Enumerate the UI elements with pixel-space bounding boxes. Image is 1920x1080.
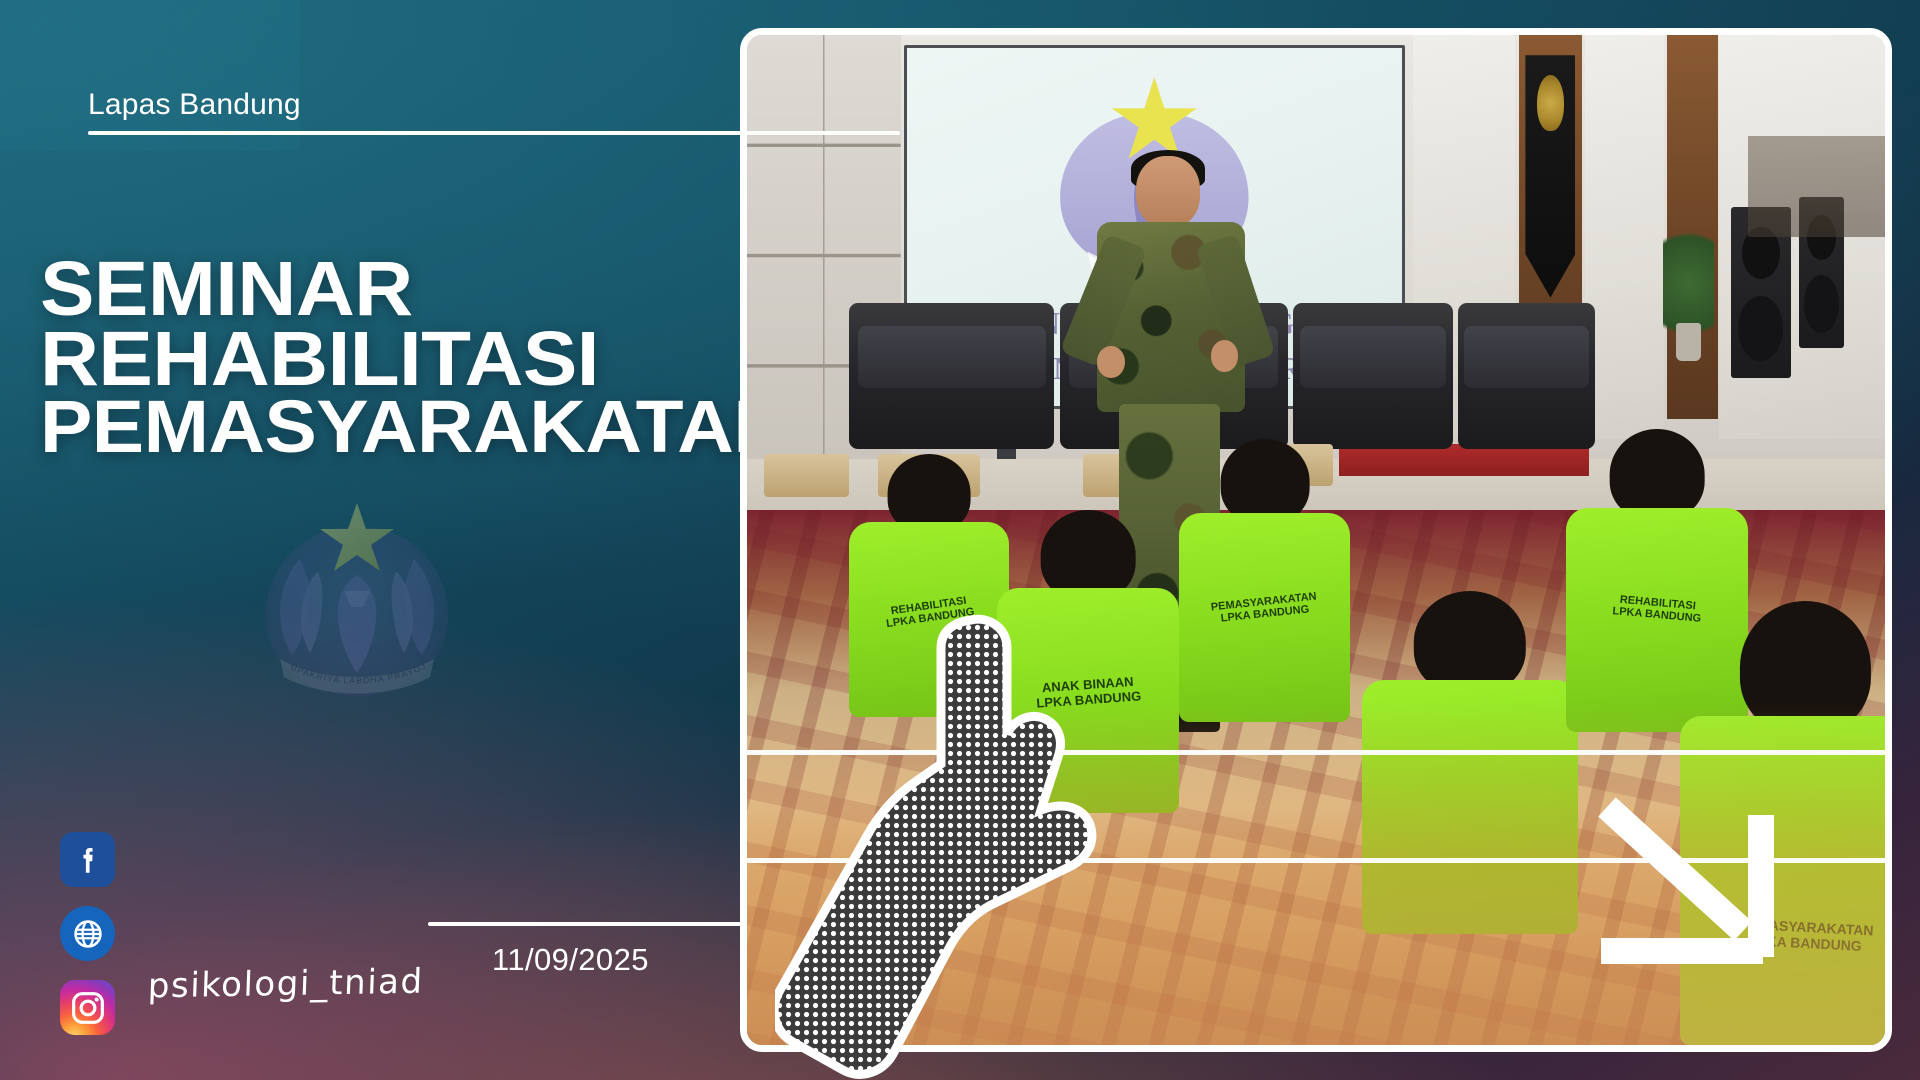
title-line-1: SEMINAR (40, 255, 846, 325)
poster-canvas: Lapas Bandung SEMINAR REHABILITASI PEMAS… (0, 0, 1920, 1080)
emblem-ribbon-text: UPAKRIYA LABDHA PRAYOJANA BALOTTAMA (232, 487, 428, 686)
facebook-icon[interactable] (60, 832, 115, 887)
instagram-glyph (68, 988, 108, 1028)
facebook-glyph (71, 843, 105, 877)
audience-shirt (1362, 680, 1578, 934)
svg-text:UPAKRIYA LABDHA PRAYOJANA BALO: UPAKRIYA LABDHA PRAYOJANA BALOTTAMA (232, 487, 428, 686)
social-handle: psikologi_tniad (147, 962, 424, 1007)
title-line-3: PEMASYARAKATAN (40, 394, 846, 461)
audience-head (1610, 429, 1705, 520)
audience-head (1041, 510, 1136, 601)
couch-1 (849, 303, 1054, 449)
title-line-2: REHABILITASI (40, 325, 846, 395)
halftone-pointing-hand-icon (775, 614, 1125, 1080)
audience-member-4 (1362, 591, 1578, 934)
audience-head (1413, 591, 1525, 694)
audience-shirt: PEMASYARAKATAN LPKA BANDUNG (1179, 513, 1350, 722)
couch-4 (1458, 303, 1595, 449)
event-date: 11/09/2025 (492, 942, 649, 978)
instagram-icon[interactable] (60, 980, 115, 1035)
marble-column-2 (1585, 35, 1665, 439)
presenter-head (1136, 156, 1201, 228)
globe-glyph (70, 916, 106, 952)
audience-head (888, 454, 971, 533)
audience-member-3: PEMASYARAKATAN LPKA BANDUNG (1179, 439, 1350, 722)
presenter-hand-left (1097, 346, 1125, 378)
audience-head (1740, 601, 1870, 734)
globe-icon[interactable] (60, 906, 115, 961)
shirt-text: PEMASYARAKATAN LPKA BANDUNG (1190, 589, 1339, 629)
equipment-rack (1748, 136, 1885, 237)
audience-head (1220, 439, 1309, 524)
potted-plant (1663, 217, 1714, 338)
kicker-underline (88, 131, 900, 135)
plant-pot (1676, 323, 1701, 361)
down-right-arrow-icon (1593, 791, 1789, 967)
pennant-emblem-icon (1537, 75, 1564, 131)
social-links (60, 832, 480, 1054)
stool-1 (764, 454, 849, 496)
emblem-watermark-icon: UPAKRIYA LABDHA PRAYOJANA BALOTTAMA (232, 487, 482, 717)
page-title: SEMINAR REHABILITASI PEMASYARAKATAN (40, 255, 846, 461)
couch-3 (1293, 303, 1452, 449)
